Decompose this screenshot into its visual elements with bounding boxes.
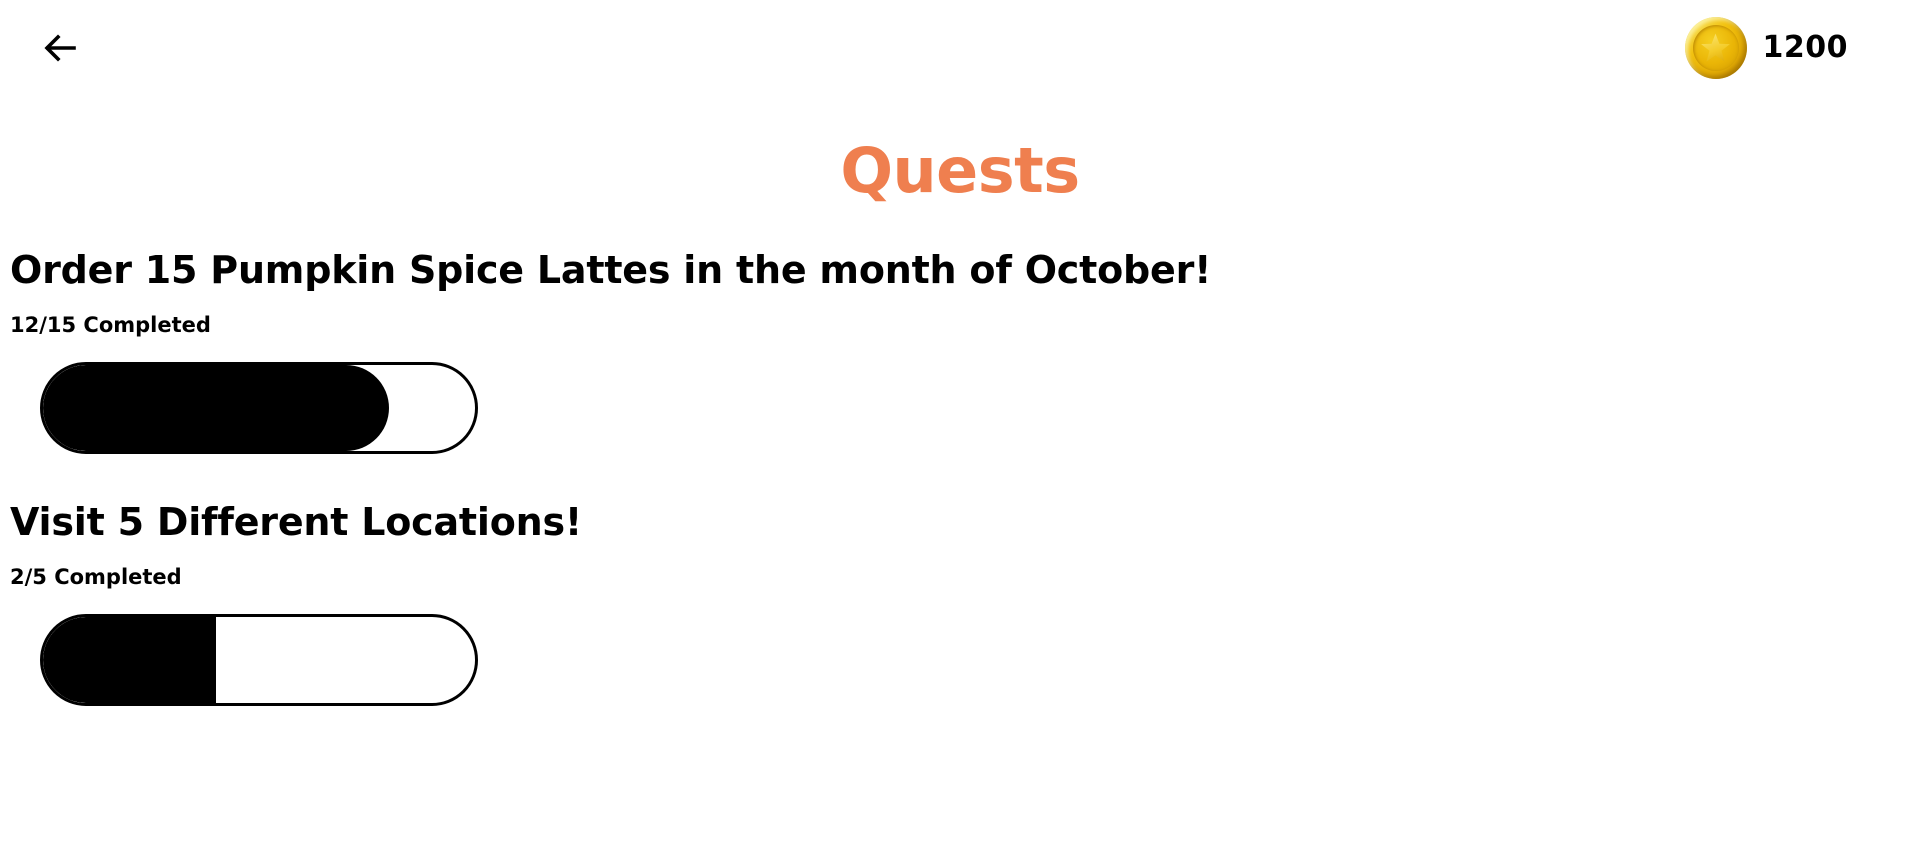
back-button[interactable] bbox=[32, 20, 88, 76]
quest-title: Visit 5 Different Locations! bbox=[10, 500, 1910, 545]
quest-item: Order 15 Pumpkin Spice Lattes in the mon… bbox=[10, 248, 1910, 454]
quest-progress-fill bbox=[43, 365, 389, 451]
quest-progress-bar bbox=[40, 614, 478, 706]
quests-screen: 1200 Quests Order 15 Pumpkin Spice Latte… bbox=[0, 0, 1920, 868]
quest-progress-label: 2/5 Completed bbox=[10, 567, 1910, 588]
coin-count-label: 1200 bbox=[1763, 33, 1849, 63]
gold-coin-star-icon bbox=[1685, 17, 1747, 79]
arrow-left-icon bbox=[38, 26, 82, 70]
quest-list: Order 15 Pumpkin Spice Lattes in the mon… bbox=[10, 248, 1910, 752]
quest-title: Order 15 Pumpkin Spice Lattes in the mon… bbox=[10, 248, 1910, 293]
top-bar: 1200 bbox=[0, 0, 1920, 96]
quest-progress-label: 12/15 Completed bbox=[10, 315, 1910, 336]
coin-balance[interactable]: 1200 bbox=[1685, 14, 1849, 82]
quest-item: Visit 5 Different Locations! 2/5 Complet… bbox=[10, 500, 1910, 706]
page-title: Quests bbox=[0, 140, 1920, 202]
quest-progress-fill bbox=[43, 617, 216, 703]
quest-progress-bar bbox=[40, 362, 478, 454]
